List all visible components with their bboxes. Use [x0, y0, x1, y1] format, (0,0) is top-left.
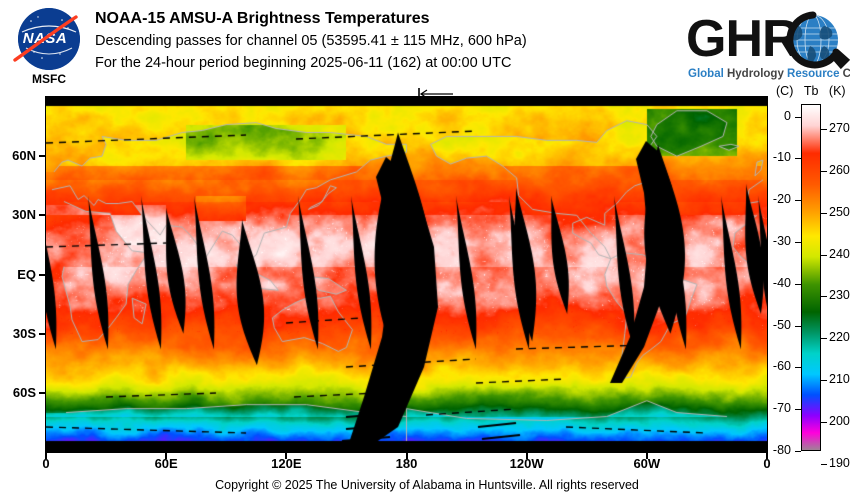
colorbar-celsius-tick: [795, 200, 801, 201]
colorbar-celsius-tick: [795, 117, 801, 118]
colorbar-celsius-label-1: -10: [755, 150, 791, 164]
colorbar-unit-celsius: (C): [776, 84, 793, 98]
y-tick-mark: [39, 392, 45, 394]
colorbar-kelvin-label-7: 200: [829, 414, 850, 428]
colorbar-gradient[interactable]: [801, 104, 821, 451]
colorbar-kelvin-label-8: 190: [829, 456, 850, 470]
y-tick-label-0: 60N: [0, 148, 36, 163]
colorbar-celsius-tick: [795, 326, 801, 327]
colorbar-kelvin-tick: [821, 464, 827, 465]
colorbar-header: (C) Tb (K): [776, 84, 854, 98]
colorbar-celsius-label-8: -80: [755, 443, 791, 457]
colorbar-celsius-label-0: 0: [755, 109, 791, 123]
colorbar-celsius-label-4: -40: [755, 276, 791, 290]
nasa-swoosh-icon: [12, 14, 80, 66]
x-tick-label-2: 120E: [256, 456, 316, 471]
colorbar-celsius-tick: [795, 284, 801, 285]
colorbar-kelvin-label-4: 230: [829, 288, 850, 302]
brightness-temperature-map[interactable]: [45, 96, 768, 453]
ghrc-logo: GHR Global Hydrology Resource Center: [684, 6, 850, 84]
title-block: NOAA-15 AMSU-A Brightness Temperatures D…: [95, 8, 675, 74]
colorbar-kelvin-tick: [821, 296, 827, 297]
nasa-logo: NASA MSFC: [14, 8, 82, 88]
x-tick-label-5: 60W: [617, 456, 677, 471]
colorbar-variable: Tb: [804, 84, 819, 98]
colorbar-unit-kelvin: (K): [829, 84, 846, 98]
x-tick-label-1: 60E: [136, 456, 196, 471]
colorbar-kelvin-label-5: 220: [829, 330, 850, 344]
figure-root: NASA MSFC NOAA-15 AMSU-A Brightness Temp…: [0, 0, 854, 502]
copyright-notice: Copyright © 2025 The University of Alaba…: [0, 478, 854, 492]
colorbar-celsius-tick: [795, 409, 801, 410]
x-tick-label-0: 0: [16, 456, 76, 471]
colorbar-kelvin-label-3: 240: [829, 247, 850, 261]
colorbar-kelvin-label-2: 250: [829, 205, 850, 219]
svg-text:GHR: GHR: [686, 10, 799, 68]
y-tick-mark: [39, 155, 45, 157]
colorbar-celsius-tick: [795, 367, 801, 368]
colorbar-celsius-label-5: -50: [755, 318, 791, 332]
colorbar-kelvin-label-0: 270: [829, 121, 850, 135]
colorbar-kelvin-tick: [821, 338, 827, 339]
page-title: NOAA-15 AMSU-A Brightness Temperatures: [95, 8, 675, 30]
colorbar-celsius-label-6: -60: [755, 359, 791, 373]
y-tick-label-2: EQ: [0, 267, 36, 282]
y-tick-mark: [39, 274, 45, 276]
colorbar-kelvin-tick: [821, 129, 827, 130]
x-tick-label-6: 0: [737, 456, 797, 471]
colorbar-celsius-tick: [795, 451, 801, 452]
y-tick-mark: [39, 333, 45, 335]
colorbar-kelvin-tick: [821, 213, 827, 214]
svg-text:Global Hydrology Resource Cent: Global Hydrology Resource Center: [688, 68, 850, 80]
msfc-label: MSFC: [14, 72, 84, 86]
colorbar-celsius-tick: [795, 158, 801, 159]
y-tick-label-1: 30N: [0, 207, 36, 222]
y-tick-mark: [39, 214, 45, 216]
x-tick-label-3: 180: [377, 456, 437, 471]
period-subtitle: For the 24-hour period beginning 2025-06…: [95, 52, 675, 74]
colorbar-celsius-label-7: -70: [755, 401, 791, 415]
colorbar-celsius-label-2: -20: [755, 192, 791, 206]
colorbar-celsius-tick: [795, 242, 801, 243]
y-tick-label-4: 60S: [0, 385, 36, 400]
colorbar-kelvin-label-1: 260: [829, 163, 850, 177]
colorbar-kelvin-tick: [821, 255, 827, 256]
colorbar-kelvin-tick: [821, 380, 827, 381]
map-raster: [46, 97, 767, 452]
x-tick-label-4: 120W: [497, 456, 557, 471]
channel-subtitle: Descending passes for channel 05 (53595.…: [95, 30, 675, 52]
colorbar-kelvin-label-6: 210: [829, 372, 850, 386]
colorbar-celsius-label-3: -30: [755, 234, 791, 248]
colorbar-kelvin-tick: [821, 171, 827, 172]
y-tick-label-3: 30S: [0, 326, 36, 341]
colorbar-kelvin-tick: [821, 422, 827, 423]
